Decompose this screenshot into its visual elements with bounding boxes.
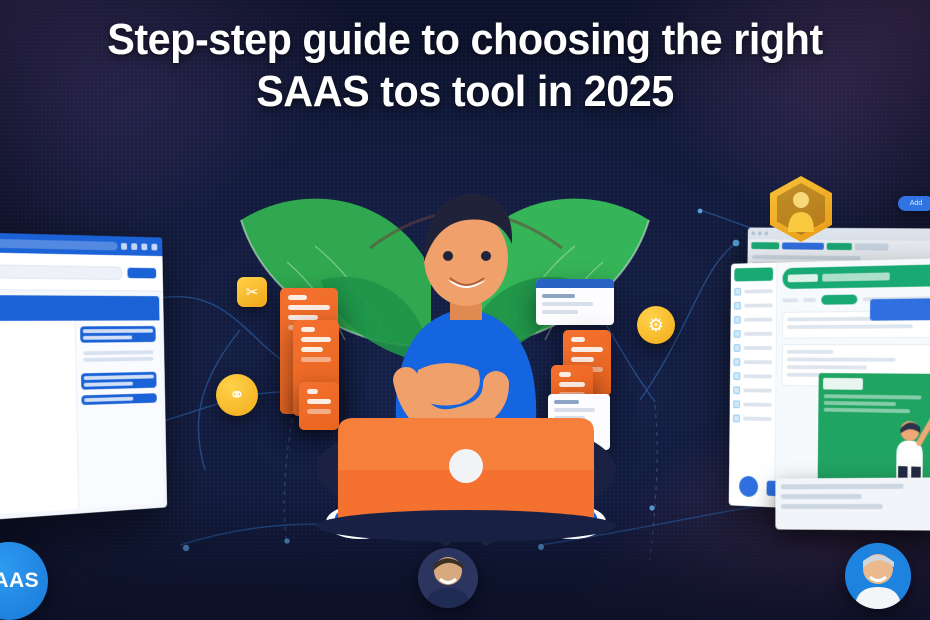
highlight-box: [870, 298, 930, 321]
share-icon: ⚭: [229, 384, 245, 407]
sidebar-item[interactable]: [734, 302, 773, 310]
chat-bubble[interactable]: [81, 372, 157, 390]
section-header-band: [0, 295, 159, 321]
badge-scissors[interactable]: ✂: [237, 277, 267, 307]
scissors-icon: ✂: [246, 283, 259, 301]
sidebar-item[interactable]: [733, 386, 772, 394]
gear-icon: [733, 415, 740, 423]
sidebar-item[interactable]: [734, 287, 773, 295]
sidebar[interactable]: [729, 263, 778, 508]
person-icon: [780, 186, 822, 232]
chat-column: [74, 320, 163, 508]
chat-bubble[interactable]: [80, 326, 156, 343]
hero-person-illustration: [300, 170, 630, 570]
sidebar-item[interactable]: [733, 415, 772, 423]
dashboard-icon: [734, 288, 741, 296]
saas-badge-label: SAAS: [0, 569, 39, 593]
badge-share[interactable]: ⚭: [216, 374, 258, 416]
sidebar-item[interactable]: [734, 344, 773, 352]
history-icon[interactable]: [121, 243, 127, 250]
gear-icon: ⚙: [648, 315, 664, 336]
chart-icon: [734, 302, 741, 310]
chrome-icon-group[interactable]: [121, 243, 157, 250]
chat-bubble[interactable]: [81, 393, 157, 405]
app-logo: [734, 267, 773, 281]
menu-icon[interactable]: [151, 243, 157, 250]
search-row: [0, 252, 163, 292]
sidebar-item[interactable]: [734, 330, 773, 338]
avatar-bottom-center[interactable]: [418, 548, 478, 608]
user-icon: [734, 316, 741, 324]
primary-button[interactable]: [127, 268, 156, 279]
page-title: Step-step guide to choosing the right SA…: [0, 14, 930, 118]
folder-icon: [733, 358, 740, 366]
sidebar-item[interactable]: [733, 372, 772, 380]
tab-item[interactable]: [751, 242, 779, 249]
briefcase-icon: [733, 386, 740, 394]
poster-canvas: ✂ ⚭ ⚙ Add: [0, 0, 930, 620]
settings-icon[interactable]: [141, 243, 147, 250]
top-right-pill-button[interactable]: Add: [898, 196, 930, 211]
badge-settings[interactable]: ⚙: [637, 306, 675, 344]
status-pill[interactable]: [821, 295, 857, 305]
sidebar-item[interactable]: [733, 358, 772, 366]
pill-button-label: Add: [910, 200, 922, 207]
green-promo-panel: [818, 373, 930, 492]
avatar-bottom-right[interactable]: [845, 543, 911, 609]
title-line-1: Step-step guide to choosing the right: [28, 14, 902, 66]
chat-bubble[interactable]: [80, 348, 156, 368]
avatar-face-icon: [418, 548, 478, 608]
avatar-face-icon: [845, 543, 911, 609]
url-bar[interactable]: [0, 238, 118, 250]
table-column: [0, 321, 78, 517]
phone-icon: [734, 344, 741, 352]
document-icon: [733, 372, 740, 380]
tab-item[interactable]: [855, 243, 889, 250]
bottom-right-card[interactable]: [775, 477, 930, 530]
sidebar-item[interactable]: [734, 316, 773, 324]
calendar-icon: [734, 330, 741, 338]
floating-action-button[interactable]: [739, 476, 758, 497]
search-input[interactable]: [0, 264, 123, 280]
panel-content: [0, 320, 163, 516]
hero-banner: [782, 264, 930, 289]
archive-icon: [733, 401, 740, 409]
sidebar-item[interactable]: [733, 401, 772, 409]
tab-item[interactable]: [827, 243, 852, 250]
cart-icon[interactable]: [131, 243, 137, 250]
tab-item[interactable]: [782, 242, 824, 249]
left-dashboard-window[interactable]: [0, 232, 167, 522]
title-line-2: SAAS tos tool in 2025: [28, 66, 902, 118]
